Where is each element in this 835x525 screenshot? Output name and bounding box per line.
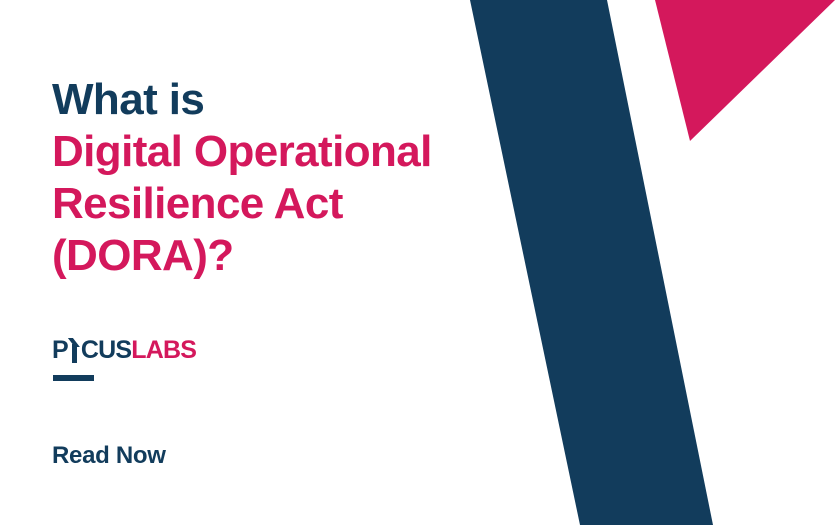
page-title: What is Digital Operational Resilience A… [52,74,502,282]
logo-letter-i-stem [72,344,77,363]
logo: P CUS LABS [52,338,196,363]
promo-banner: What is Digital Operational Resilience A… [0,0,835,525]
read-now-link[interactable]: Read Now [52,441,166,471]
logo-letter-i-accent [68,338,81,363]
logo-letter-p: P [52,338,68,363]
logo-letters-cus: CUS [81,338,131,363]
logo-wordmark: P CUS LABS [52,338,196,363]
content-column: What is Digital Operational Resilience A… [52,0,512,525]
headline-lead: What is [52,74,502,126]
pink-triangle-shape [655,0,835,141]
logo-underline-rule [53,375,94,381]
logo-letters-labs: LABS [131,338,196,363]
headline-main: Digital Operational Resilience Act (DORA… [52,126,502,282]
